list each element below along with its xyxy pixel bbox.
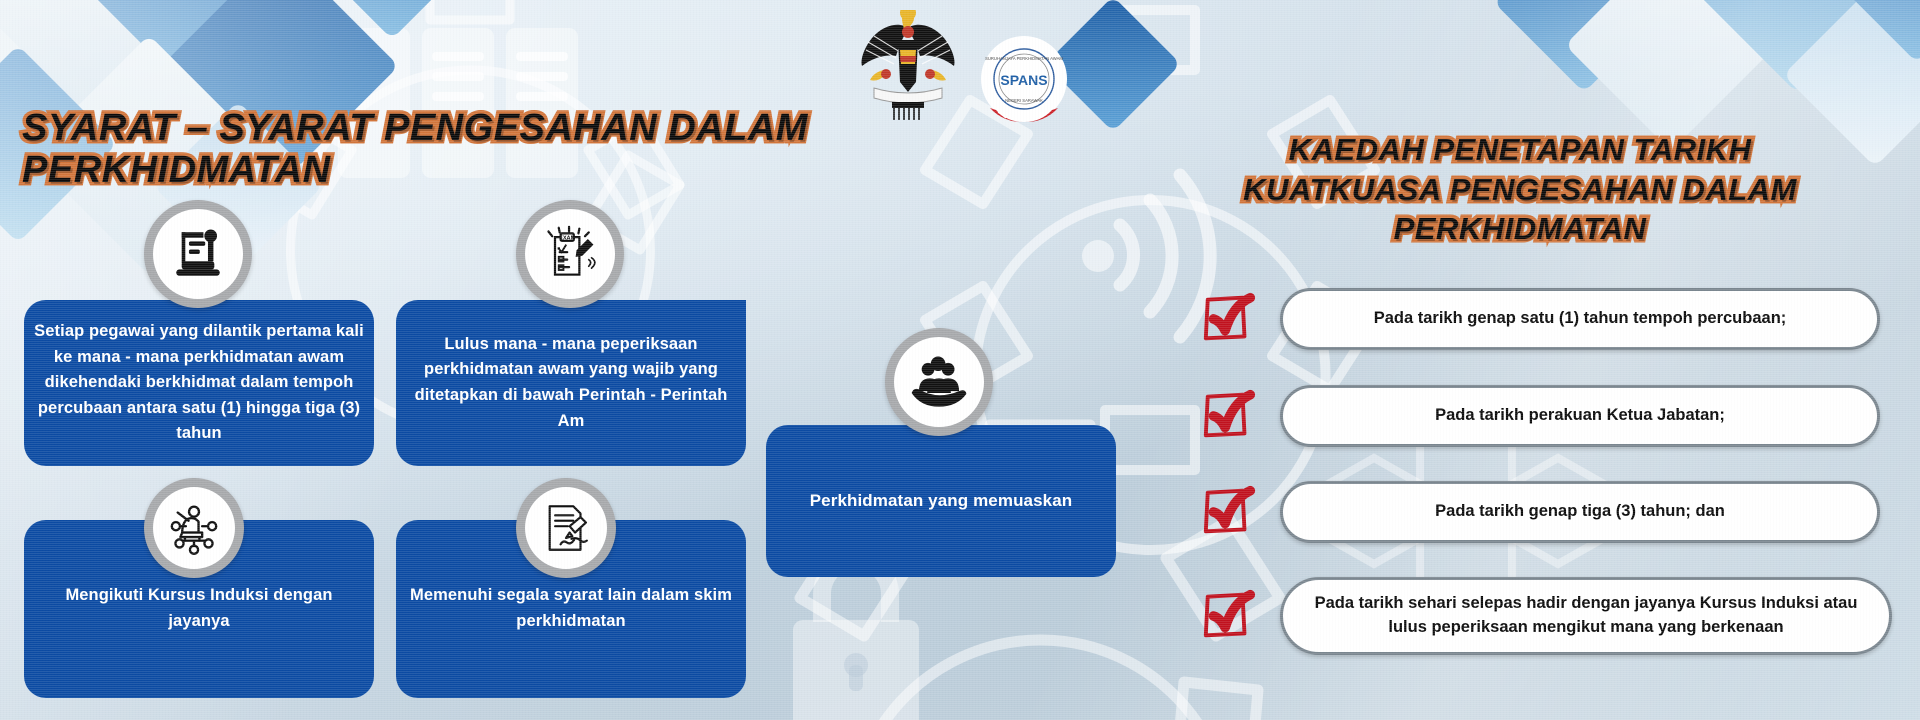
infographic-canvas: SPANS SURUHANJAYA PERKHIDMATAN AWAM NEGE… (0, 0, 1920, 720)
background-texture (0, 0, 1920, 720)
